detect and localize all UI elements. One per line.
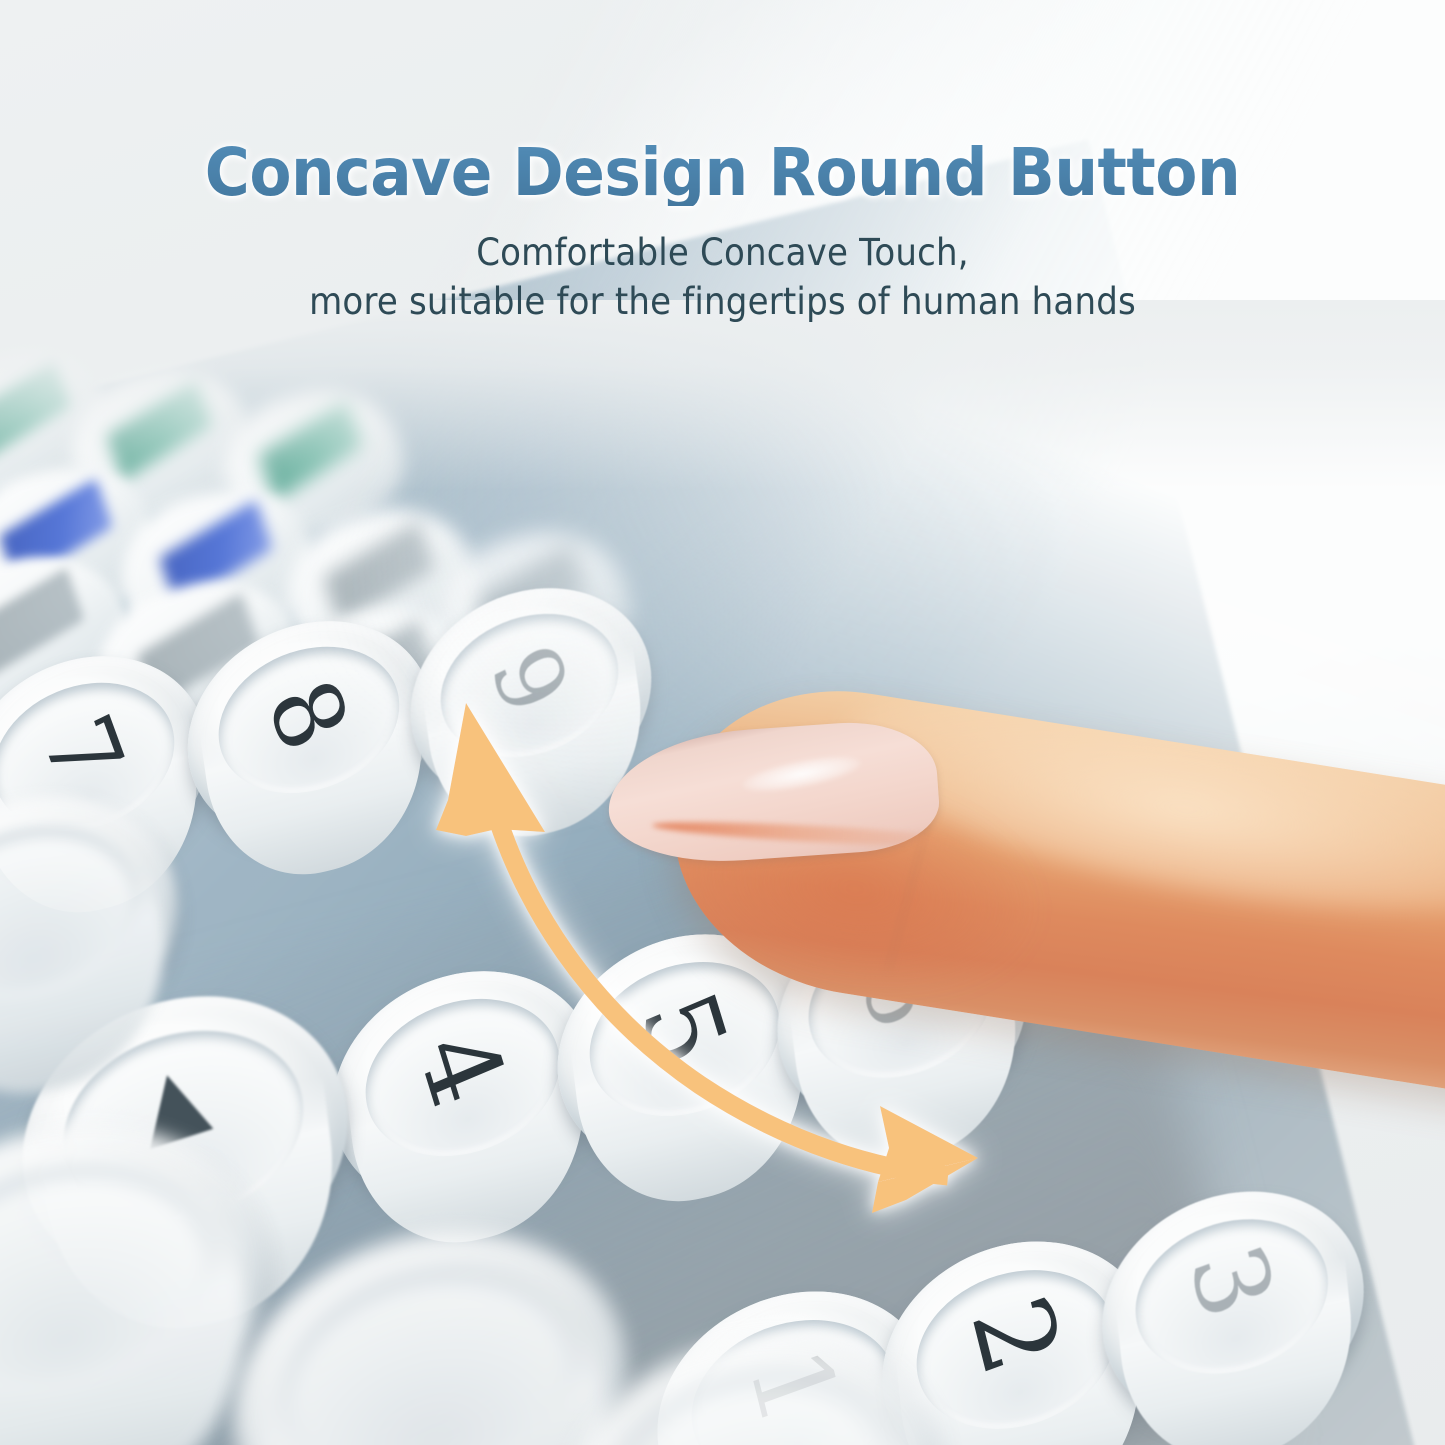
keyboard-photo: 7 8 9 4 5 6 1 2 3 ◀ bbox=[0, 0, 1445, 1445]
key-legend-teal bbox=[0, 359, 71, 460]
product-feature-banner: 7 8 9 4 5 6 1 2 3 ◀ bbox=[0, 0, 1445, 1445]
key-legend-teal bbox=[258, 399, 363, 500]
key-legend-teal bbox=[106, 379, 212, 481]
